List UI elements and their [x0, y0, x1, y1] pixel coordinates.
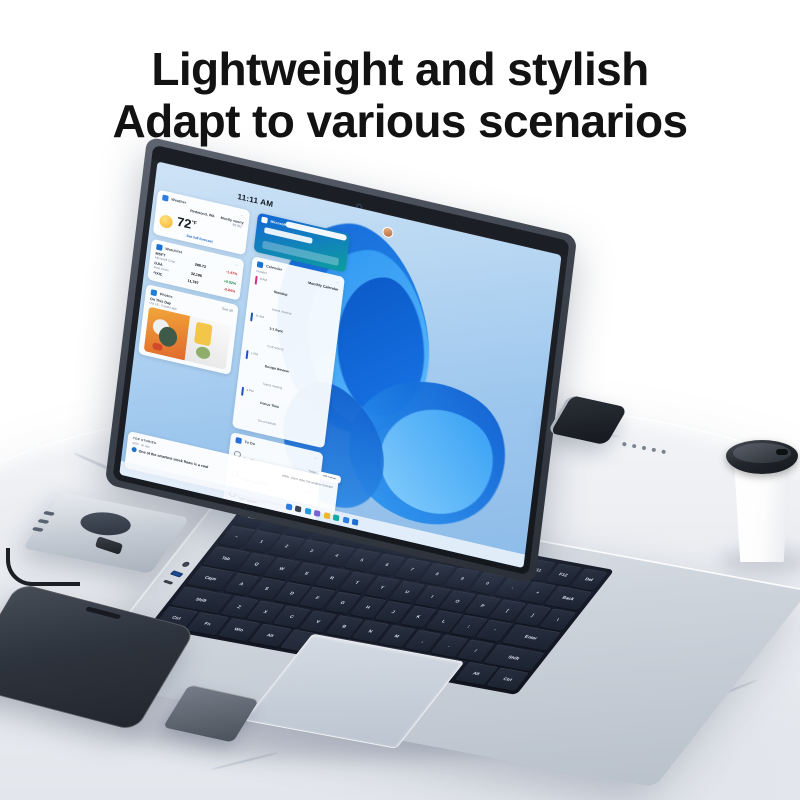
search-icon[interactable]: [295, 505, 302, 512]
photo-shape: [152, 342, 163, 351]
event-time: 3 PM: [246, 388, 258, 395]
calendar-widget[interactable]: Calendar ⋯ October Monthly Calendar 9 AM…: [232, 256, 345, 448]
see-all-link[interactable]: See all: [222, 307, 233, 313]
cup-sip-hole: [776, 449, 788, 455]
headline-line-2: Adapt to various scenarios: [0, 96, 800, 148]
stock-value: 288.73: [195, 263, 206, 269]
edge-icon: [261, 216, 268, 223]
more-icon[interactable]: ⋯: [241, 214, 245, 219]
event-sub: Teams meeting: [272, 307, 292, 315]
weather-icon: [162, 194, 169, 201]
more-icon[interactable]: ⋯: [335, 280, 339, 285]
stock-change: +0.52%: [224, 279, 237, 286]
event-title: Focus Time: [260, 401, 279, 409]
widget-title: To Do: [244, 440, 255, 446]
event-time: 1 PM: [251, 351, 263, 358]
chat-icon[interactable]: [314, 510, 321, 517]
calendar-today: October: [256, 269, 267, 275]
more-icon[interactable]: ⋯: [314, 456, 318, 461]
photos-widget[interactable]: Photos See all On This Day Oct 18 · 4 ye…: [138, 284, 238, 375]
news-source-icon: [131, 447, 137, 453]
stock-symbol: ^IXIC: [153, 271, 163, 277]
page-title: Lightweight and stylish Adapt to various…: [0, 44, 800, 147]
laptop-screen[interactable]: 11:11 AM Weather ⋯: [119, 161, 561, 568]
event-sub: Teams meeting: [262, 381, 282, 389]
widget-title: Weather: [171, 198, 186, 205]
hub-top-inlay: [74, 509, 137, 539]
stock-change: -0.84%: [224, 287, 236, 294]
start-icon[interactable]: [286, 503, 293, 510]
stock-value: 11,787: [187, 279, 198, 285]
event-color: [241, 387, 244, 396]
widgets-panel[interactable]: 11:11 AM Weather ⋯: [124, 178, 356, 517]
phone-earpiece-icon: [85, 606, 122, 619]
more-icon[interactable]: ⋯: [235, 263, 239, 268]
stock-value: 32,196: [191, 272, 202, 278]
event-time: 9 AM: [260, 276, 272, 283]
mail-icon[interactable]: [352, 519, 359, 526]
event-time: 11 AM: [255, 313, 267, 320]
weather-unit: °F: [191, 220, 197, 227]
event-title: Standup: [274, 289, 288, 296]
event-color: [255, 275, 258, 284]
store-icon[interactable]: [343, 516, 350, 523]
photo-shape: [195, 345, 210, 360]
photo-shape: [194, 322, 213, 347]
event-color: [250, 312, 253, 321]
event-title: 1:1 Sync: [269, 327, 283, 334]
photo-thumb[interactable]: [144, 307, 190, 361]
widgets-icon[interactable]: [305, 508, 312, 515]
todo-icon: [235, 436, 242, 443]
widgets-column-left: Weather ⋯ Redmond, WA Mostly sunn: [138, 189, 250, 375]
explorer-icon[interactable]: [324, 512, 331, 519]
charging-cable: [6, 548, 80, 586]
photos-icon: [150, 289, 157, 296]
product-hero-scene: Lightweight and stylish Adapt to various…: [0, 0, 800, 800]
widget-title: Photos: [160, 292, 173, 299]
event-color: [246, 350, 249, 359]
photo-thumb[interactable]: [185, 316, 231, 370]
edge-icon[interactable]: [333, 514, 340, 521]
event-title: Design Review: [265, 364, 289, 373]
calendar-icon: [257, 261, 264, 268]
stocks-icon: [156, 244, 163, 251]
event-sub: Do not disturb: [258, 418, 276, 426]
stock-change: -1.47%: [226, 270, 238, 277]
event-sub: Conf room B: [267, 344, 284, 352]
headline-line-1: Lightweight and stylish: [0, 44, 800, 96]
coffee-cup: [726, 432, 798, 562]
laptop: Esc F1 F2 F3 F4 F5 F6 F7 F8 F9 F10 F11 F…: [118, 180, 718, 740]
